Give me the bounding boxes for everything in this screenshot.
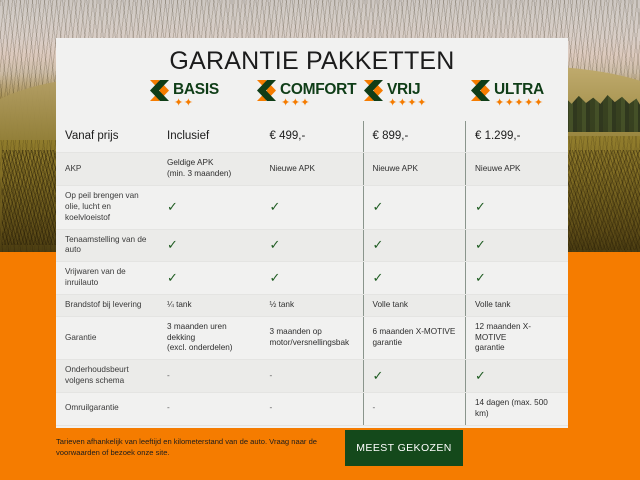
check-icon: ✓ [167,200,178,213]
table-cell: ✓ [363,262,466,295]
table-cell: ✓ [363,229,466,262]
table-cell: ✓ [261,186,364,229]
plan-stars-comfort: ✦✦✦ [281,98,310,109]
table-cell: € 899,- [363,121,466,153]
table-cell: - [261,392,364,425]
table-cell: € 1.299,- [466,121,569,153]
table-cell: - [363,392,466,425]
check-icon: ✓ [475,200,486,213]
x-motive-logo-icon [257,80,283,101]
feature-label: AKP [56,153,158,186]
feature-label: Omruilgarantie [56,392,158,425]
pricing-card: GARANTIE PAKKETTEN BASIS ✦✦ [56,38,568,428]
plan-header-vrij[interactable]: VRIJ ✦✦✦✦ [354,79,461,109]
feature-label: Brandstof bij levering [56,294,158,316]
table-cell: 14 dagen (max. 500 km) [466,392,569,425]
table-cell: ½ tank [261,294,364,316]
check-icon: ✓ [167,271,178,284]
table-cell: Volle tank [466,294,569,316]
not-included-dash: - [270,371,273,380]
plan-header-row: BASIS ✦✦ COMFORT ✦✦ [56,74,568,121]
table-cell: Volle tank [363,294,466,316]
table-cell: Geldige APK(min. 3 maanden) [158,153,261,186]
table-cell: 3 maanden uren dekking(excl. onderdelen) [158,316,261,359]
x-motive-logo-icon [150,80,176,101]
table-cell: - [158,392,261,425]
not-included-dash: - [270,403,273,412]
table-cell: ✓ [261,229,364,262]
table-cell: Nieuwe APK [363,153,466,186]
check-icon: ✓ [270,238,281,251]
plan-header-ultra[interactable]: ULTRA ✦✦✦✦✦ [461,79,568,109]
table-row: Brandstof bij levering¼ tank½ tankVolle … [56,294,568,316]
table-cell: ✓ [466,262,569,295]
table-row: Vanaf prijsInclusief€ 499,-€ 899,-€ 1.29… [56,121,568,153]
not-included-dash: - [373,403,376,412]
table-cell: ✓ [466,229,569,262]
table-cell: ✓ [261,262,364,295]
feature-label: Garantie [56,316,158,359]
table-cell: ✓ [466,186,569,229]
check-icon: ✓ [167,238,178,251]
table-row: Omruilgarantie---14 dagen (max. 500 km) [56,392,568,425]
table-cell: 12 maanden X-MOTIVEgarantie [466,316,569,359]
plan-stars-basis: ✦✦ [174,98,193,109]
feature-label: Vrijwaren van de inruilauto [56,262,158,295]
table-cell: ¼ tank [158,294,261,316]
feature-label: Vanaf prijs [56,121,158,153]
table-cell: € 499,- [261,121,364,153]
table-cell: Nieuwe APK [261,153,364,186]
footer-disclaimer: Tarieven afhankelijk van leeftijd en kil… [56,436,356,458]
table-cell: ✓ [466,360,569,393]
table-row: Vrijwaren van de inruilauto✓✓✓✓ [56,262,568,295]
table-cell: ✓ [363,360,466,393]
plan-header-comfort[interactable]: COMFORT ✦✦✦ [247,79,354,109]
plan-header-basis[interactable]: BASIS ✦✦ [140,79,247,109]
table-cell: ✓ [158,186,261,229]
feature-label: Tenaamstelling van de auto [56,229,158,262]
table-cell: - [261,360,364,393]
card-footer: Tarieven afhankelijk van leeftijd en kil… [56,430,568,478]
table-row: Garantie3 maanden uren dekking(excl. ond… [56,316,568,359]
comparison-table: Vanaf prijsInclusief€ 499,-€ 899,-€ 1.29… [56,121,568,425]
plan-stars-ultra: ✦✦✦✦✦ [495,98,544,109]
x-motive-logo-icon [364,80,390,101]
table-row: Tenaamstelling van de auto✓✓✓✓ [56,229,568,262]
table-cell: ✓ [158,229,261,262]
plan-stars-vrij: ✦✦✦✦ [388,98,427,109]
meest-gekozen-button[interactable]: MEEST GEKOZEN [345,430,463,466]
table-cell: 3 maanden opmotor/versnellingsbak [261,316,364,359]
table-row: Onderhoudsbeurt volgens schema--✓✓ [56,360,568,393]
check-icon: ✓ [373,200,384,213]
not-included-dash: - [167,403,170,412]
table-cell: 6 maanden X-MOTIVEgarantie [363,316,466,359]
table-cell: Nieuwe APK [466,153,569,186]
not-included-dash: - [167,371,170,380]
x-motive-logo-icon [471,80,497,101]
check-icon: ✓ [270,200,281,213]
check-icon: ✓ [373,271,384,284]
table-cell: Inclusief [158,121,261,153]
check-icon: ✓ [475,271,486,284]
check-icon: ✓ [475,369,486,382]
page-title: GARANTIE PAKKETTEN [56,38,568,74]
feature-label: Onderhoudsbeurt volgens schema [56,360,158,393]
comparison-table-body: Vanaf prijsInclusief€ 499,-€ 899,-€ 1.29… [56,121,568,425]
check-icon: ✓ [373,369,384,382]
table-row: AKPGeldige APK(min. 3 maanden)Nieuwe APK… [56,153,568,186]
check-icon: ✓ [373,238,384,251]
feature-label: Op peil brengen van olie, lucht en koelv… [56,186,158,229]
check-icon: ✓ [270,271,281,284]
table-cell: - [158,360,261,393]
table-cell: ✓ [158,262,261,295]
table-cell: ✓ [363,186,466,229]
check-icon: ✓ [475,238,486,251]
table-row: Op peil brengen van olie, lucht en koelv… [56,186,568,229]
